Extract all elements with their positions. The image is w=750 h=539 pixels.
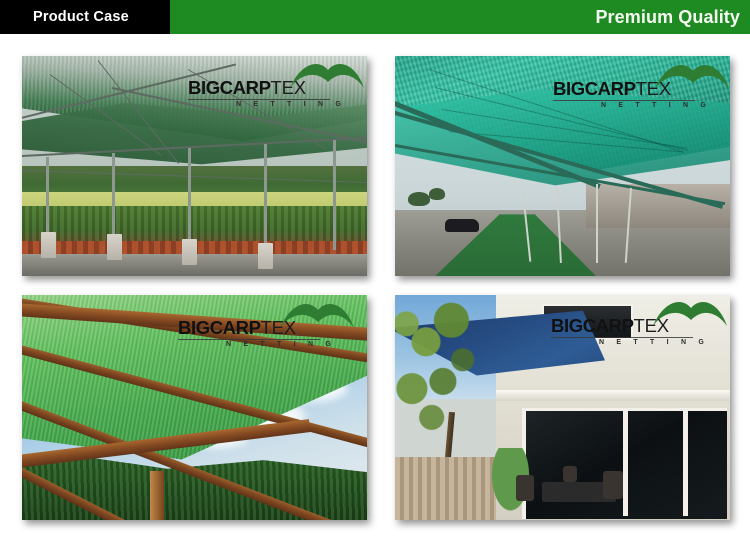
patio-chair	[516, 475, 534, 501]
photo-carpark-shade-canopy[interactable]: BIGCARPTEX N E T T I N G	[395, 56, 730, 276]
photo-wooden-pergola-shade-net[interactable]: BIGCARPTEX N E T T I N G	[22, 295, 367, 520]
privacy-screen	[395, 457, 496, 520]
background-tree	[429, 188, 445, 200]
product-case-gallery: BIGCARPTEX N E T T I N G	[0, 34, 750, 539]
support-post	[333, 140, 336, 250]
page-header: Product Case Premium Quality	[0, 0, 750, 34]
concrete-footing	[182, 239, 197, 265]
background-tree	[408, 192, 430, 206]
patio-chair	[563, 466, 577, 482]
patio-scene: BIGCARPTEX N E T T I N G	[395, 295, 730, 520]
product-case-label: Product Case	[0, 9, 129, 25]
pergola-post	[150, 471, 164, 521]
premium-quality-label: Premium Quality	[595, 7, 750, 28]
door-mullion	[623, 408, 628, 516]
support-post	[264, 144, 267, 250]
photo-greenhouse-shade-net[interactable]: BIGCARPTEX N E T T I N G	[22, 56, 367, 276]
door-mullion	[683, 408, 688, 516]
parked-car	[445, 219, 479, 232]
photo-blue-patio-shade-sail[interactable]: BIGCARPTEX N E T T I N G	[395, 295, 730, 520]
concrete-footing	[41, 232, 56, 258]
steel-truss	[596, 184, 598, 263]
header-right-panel: Premium Quality	[170, 0, 750, 34]
concrete-footing	[107, 234, 122, 260]
pergola-scene: BIGCARPTEX N E T T I N G	[22, 295, 367, 520]
header-left-panel: Product Case	[0, 0, 170, 34]
concrete-footing	[258, 243, 273, 269]
carpark-scene: BIGCARPTEX N E T T I N G	[395, 56, 730, 276]
support-post	[188, 148, 191, 249]
greenhouse-scene: BIGCARPTEX N E T T I N G	[22, 56, 367, 276]
patio-chair	[603, 471, 623, 499]
